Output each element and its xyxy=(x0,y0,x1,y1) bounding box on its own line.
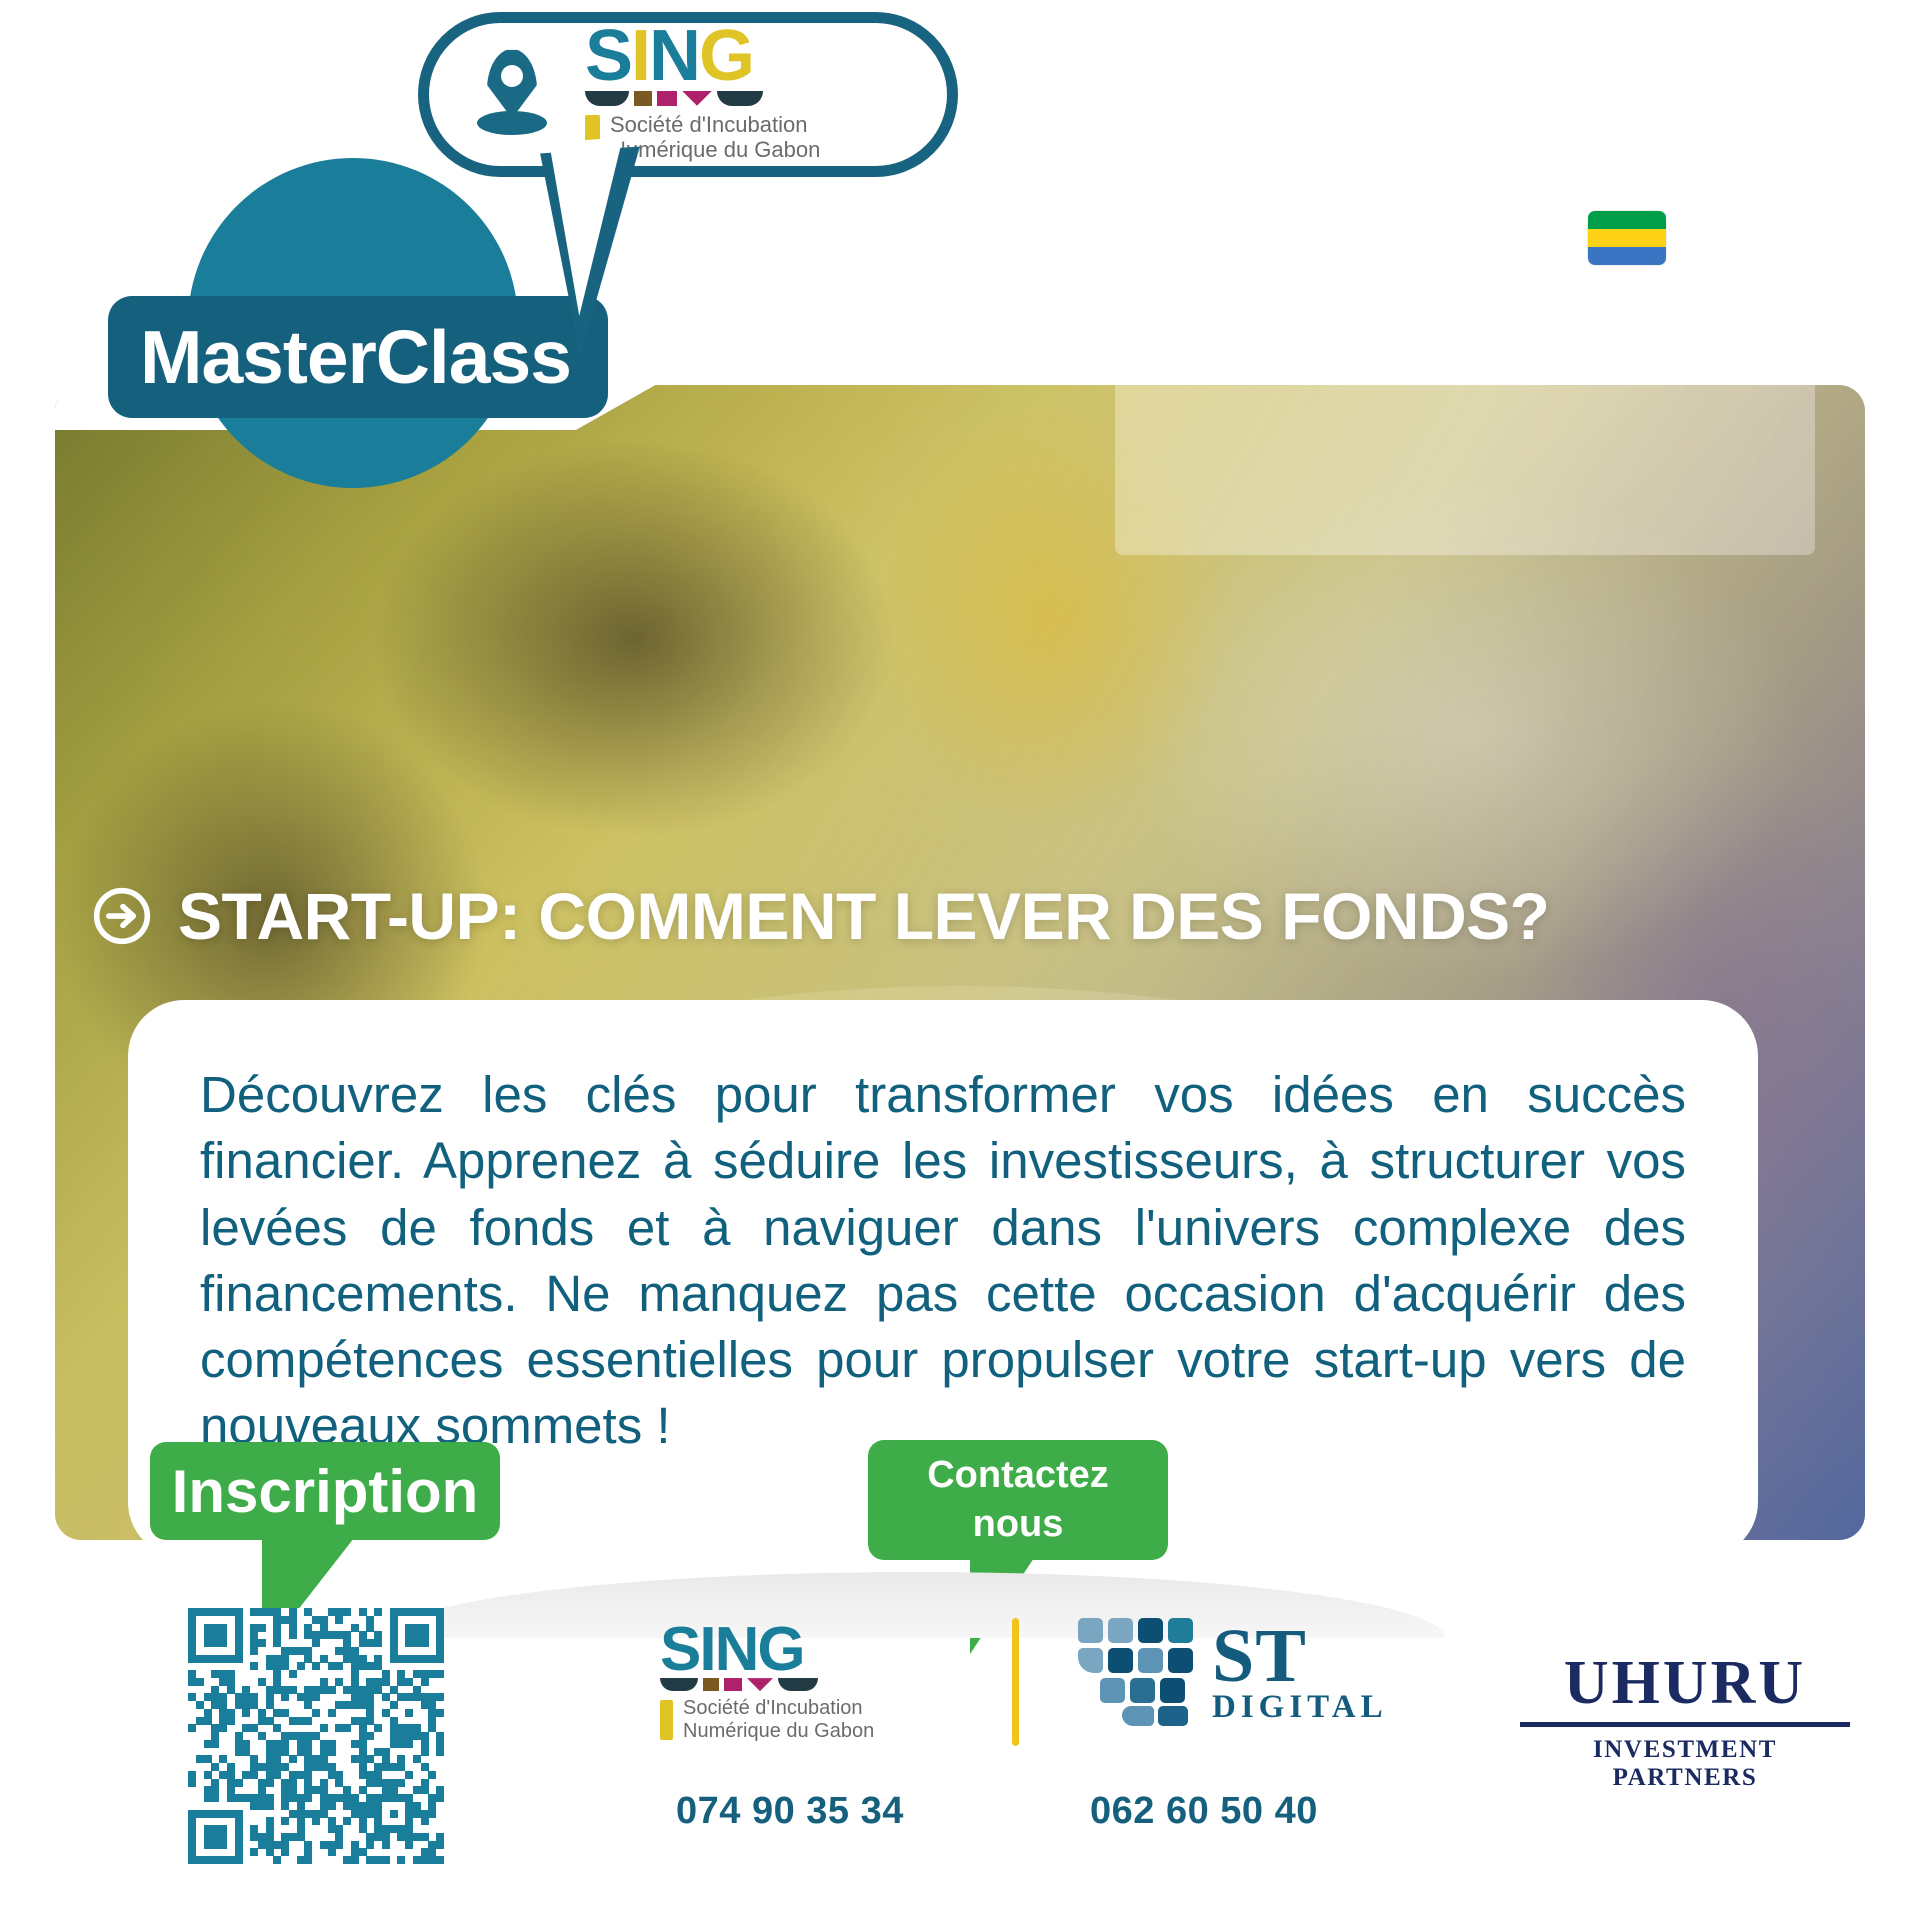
stdigital-phone-number: 062 60 50 40 xyxy=(1090,1790,1318,1833)
sing-tagline-line2: Numérique du Gabon xyxy=(610,137,820,163)
footer-sing-letter-s: SING xyxy=(660,1624,804,1676)
uhuru-word-main: UHURU xyxy=(1520,1652,1850,1714)
sing-wordmark: S I N G xyxy=(585,26,820,86)
footer-sing-tagline-line1: Société d'Incubation xyxy=(683,1697,874,1720)
sing-logo-bubble: S I N G Société d'Incubation Numérique d… xyxy=(418,12,958,177)
stdigital-word-main: ST xyxy=(1212,1622,1388,1692)
stdigital-logo: ST DIGITAL xyxy=(1078,1618,1388,1726)
contact-badge[interactable]: Contactez nous xyxy=(868,1440,1168,1560)
sing-tagline-text: Société d'Incubation Numérique du Gabon xyxy=(610,112,820,163)
date-label: Jeudi 29 xyxy=(1114,190,1482,286)
headline-row: START-UP: COMMENT LEVER DES FONDS? xyxy=(92,878,1549,954)
sing-letter-s: S xyxy=(585,26,631,86)
masterclass-badge: MasterClass xyxy=(108,296,608,418)
footer-sing-tagline-line2: Numérique du Gabon xyxy=(683,1720,874,1743)
gabon-flag-icon xyxy=(1588,211,1666,265)
stdigital-grid-icon xyxy=(1078,1618,1198,1726)
sing-letter-n: N xyxy=(649,26,699,86)
stdigital-word-sub: DIGITAL xyxy=(1212,1692,1388,1722)
qr-code[interactable] xyxy=(188,1608,444,1864)
masterclass-label: MasterClass xyxy=(140,314,571,400)
sing-underbar xyxy=(585,91,820,106)
uhuru-word-sub: INVESTMENT PARTNERS xyxy=(1520,1736,1850,1792)
arrow-right-circle-icon-headline xyxy=(92,886,152,946)
stdigital-wordmark: ST DIGITAL xyxy=(1212,1622,1388,1722)
poster-root: Janvier Jeudi 29 S xyxy=(0,0,1920,1920)
uhuru-rule xyxy=(1520,1722,1850,1727)
footer-divider xyxy=(1012,1618,1019,1746)
contact-label-line1: Contactez xyxy=(927,1452,1109,1500)
arrow-right-circle-icon-2 xyxy=(1504,207,1566,269)
sing-phone-number: 074 90 35 34 xyxy=(676,1790,904,1833)
inscription-label: Inscription xyxy=(172,1457,479,1526)
footer-sing-logo: SING Société d'Incubation Numérique du G… xyxy=(660,1624,874,1743)
page-title: START-UP: COMMENT LEVER DES FONDS? xyxy=(178,878,1549,954)
location-pin-icon xyxy=(475,49,549,141)
arrow-right-circle-icon xyxy=(1030,207,1092,269)
uhuru-logo: UHURU INVESTMENT PARTNERS xyxy=(1520,1652,1850,1792)
sing-letter-i: I xyxy=(631,26,649,86)
sing-tagline-line1: Société d'Incubation xyxy=(610,112,820,138)
date-row: Jeudi 29 xyxy=(1030,190,1666,286)
contact-label-line2: nous xyxy=(973,1501,1064,1549)
bubble-tail-inner xyxy=(549,137,635,317)
inscription-badge[interactable]: Inscription xyxy=(150,1442,500,1540)
description-text: Découvrez les clés pour transformer vos … xyxy=(128,1000,1758,1460)
sing-letter-g: G xyxy=(699,26,753,86)
